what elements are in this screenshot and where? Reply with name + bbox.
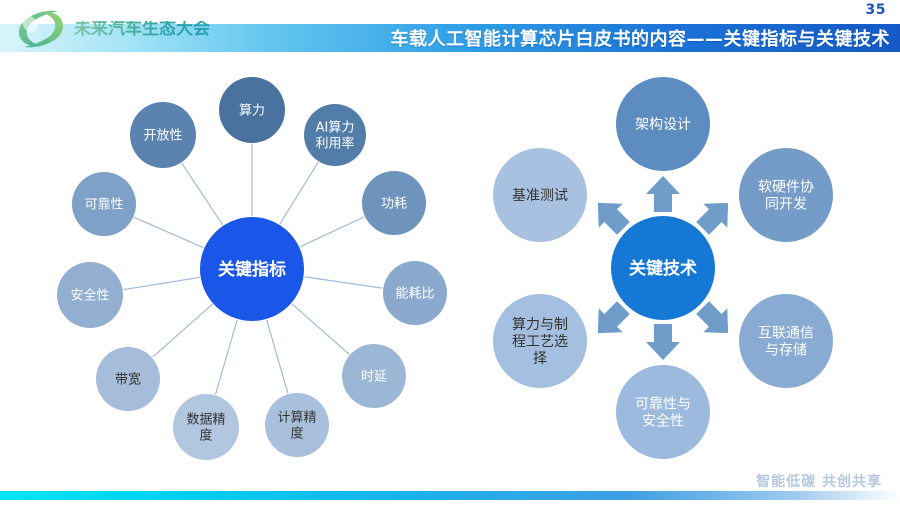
indicator-node-label-0: 算力 <box>239 104 265 119</box>
svg-text:择: 择 <box>533 351 547 367</box>
indicator-node-label-3: 能耗比 <box>395 287 434 302</box>
indicator-node-label-10: 开放性 <box>143 129 182 144</box>
technologies-center-label: 关键技术 <box>629 258 697 279</box>
svg-text:同开发: 同开发 <box>765 196 807 212</box>
indicator-node-label-8: 安全性 <box>70 288 109 304</box>
technology-node-label-3: 可靠性与安全性 <box>635 396 691 429</box>
technology-node-label-2: 互联通信与存储 <box>758 325 814 358</box>
footer-slogan: 智能低碳 共创共享 <box>756 471 882 491</box>
page-number: 35 <box>866 2 886 18</box>
svg-text:可靠性与: 可靠性与 <box>635 396 691 412</box>
spoke-line <box>280 162 318 224</box>
svg-text:程工艺选: 程工艺选 <box>512 334 568 350</box>
spoke-line <box>216 320 238 394</box>
svg-text:基准测试: 基准测试 <box>512 187 568 204</box>
svg-text:架构设计: 架构设计 <box>635 117 691 133</box>
indicator-node-label-1: AI算力利用率 <box>315 121 354 152</box>
svg-text:与存储: 与存储 <box>765 342 807 358</box>
spoke-line <box>124 277 200 289</box>
key-technologies-diagram: 架构设计软硬件协同开发互联通信与存储可靠性与安全性算力与制程工艺选择基准测试关键… <box>460 62 890 462</box>
svg-text:算力与制: 算力与制 <box>512 317 568 333</box>
indicator-node-label-7: 带宽 <box>115 372 141 388</box>
spoke-line <box>304 277 382 288</box>
spoke-line <box>267 320 288 393</box>
spoke-line <box>134 217 203 247</box>
arrow-up-left <box>598 203 630 235</box>
arrow-down-right <box>696 301 728 333</box>
svg-text:度: 度 <box>290 425 303 441</box>
indicators-center-label: 关键指标 <box>218 259 286 280</box>
technology-node-label-5: 基准测试 <box>512 187 568 204</box>
svg-text:开放性: 开放性 <box>143 129 182 144</box>
arrow-down <box>646 324 680 360</box>
svg-text:安全性: 安全性 <box>70 288 109 304</box>
spoke-line <box>182 163 223 225</box>
logo-text: 未来汽车生态大会 <box>74 21 210 38</box>
spoke-line <box>300 217 364 247</box>
svg-text:利用率: 利用率 <box>315 135 354 151</box>
technology-node-label-0: 架构设计 <box>635 117 691 133</box>
svg-text:带宽: 带宽 <box>115 372 141 388</box>
svg-text:安全性: 安全性 <box>642 412 684 429</box>
key-indicators-svg: 算力AI算力利用率功耗能耗比时延计算精度数据精度带宽安全性可靠性开放性关键指标 <box>30 62 460 462</box>
key-indicators-diagram: 算力AI算力利用率功耗能耗比时延计算精度数据精度带宽安全性可靠性开放性关键指标 <box>30 62 460 462</box>
arrow-down-left <box>598 301 630 333</box>
svg-text:可靠性: 可靠性 <box>84 198 123 213</box>
footer-gradient-bar <box>0 491 900 500</box>
arrow-up-right <box>696 203 728 235</box>
svg-text:计算精: 计算精 <box>277 411 316 426</box>
svg-text:软硬件协: 软硬件协 <box>758 179 814 195</box>
swoosh-leaf-logo-icon <box>12 7 70 51</box>
key-technologies-svg: 架构设计软硬件协同开发互联通信与存储可靠性与安全性算力与制程工艺选择基准测试关键… <box>460 62 890 462</box>
indicator-node-label-2: 功耗 <box>381 197 407 212</box>
technology-node-label-1: 软硬件协同开发 <box>758 179 814 212</box>
svg-text:时延: 时延 <box>361 370 387 385</box>
arrow-up <box>646 176 680 212</box>
slide-canvas: 35 车载人工智能计算芯片白皮书的内容——关键指标与关键技术 未来汽车生态大会 … <box>0 0 900 505</box>
svg-text:AI算力: AI算力 <box>316 121 355 136</box>
indicator-node-label-4: 时延 <box>361 370 387 385</box>
svg-text:能耗比: 能耗比 <box>395 287 434 302</box>
spoke-line <box>292 304 349 354</box>
indicator-node-label-9: 可靠性 <box>84 198 123 213</box>
svg-text:算力: 算力 <box>239 104 265 119</box>
svg-text:度: 度 <box>199 427 212 443</box>
svg-text:数据精: 数据精 <box>186 413 225 428</box>
spoke-line <box>153 304 213 357</box>
svg-text:互联通信: 互联通信 <box>758 325 814 341</box>
conference-logo: 未来汽车生态大会 <box>12 6 227 52</box>
svg-text:功耗: 功耗 <box>381 197 407 212</box>
